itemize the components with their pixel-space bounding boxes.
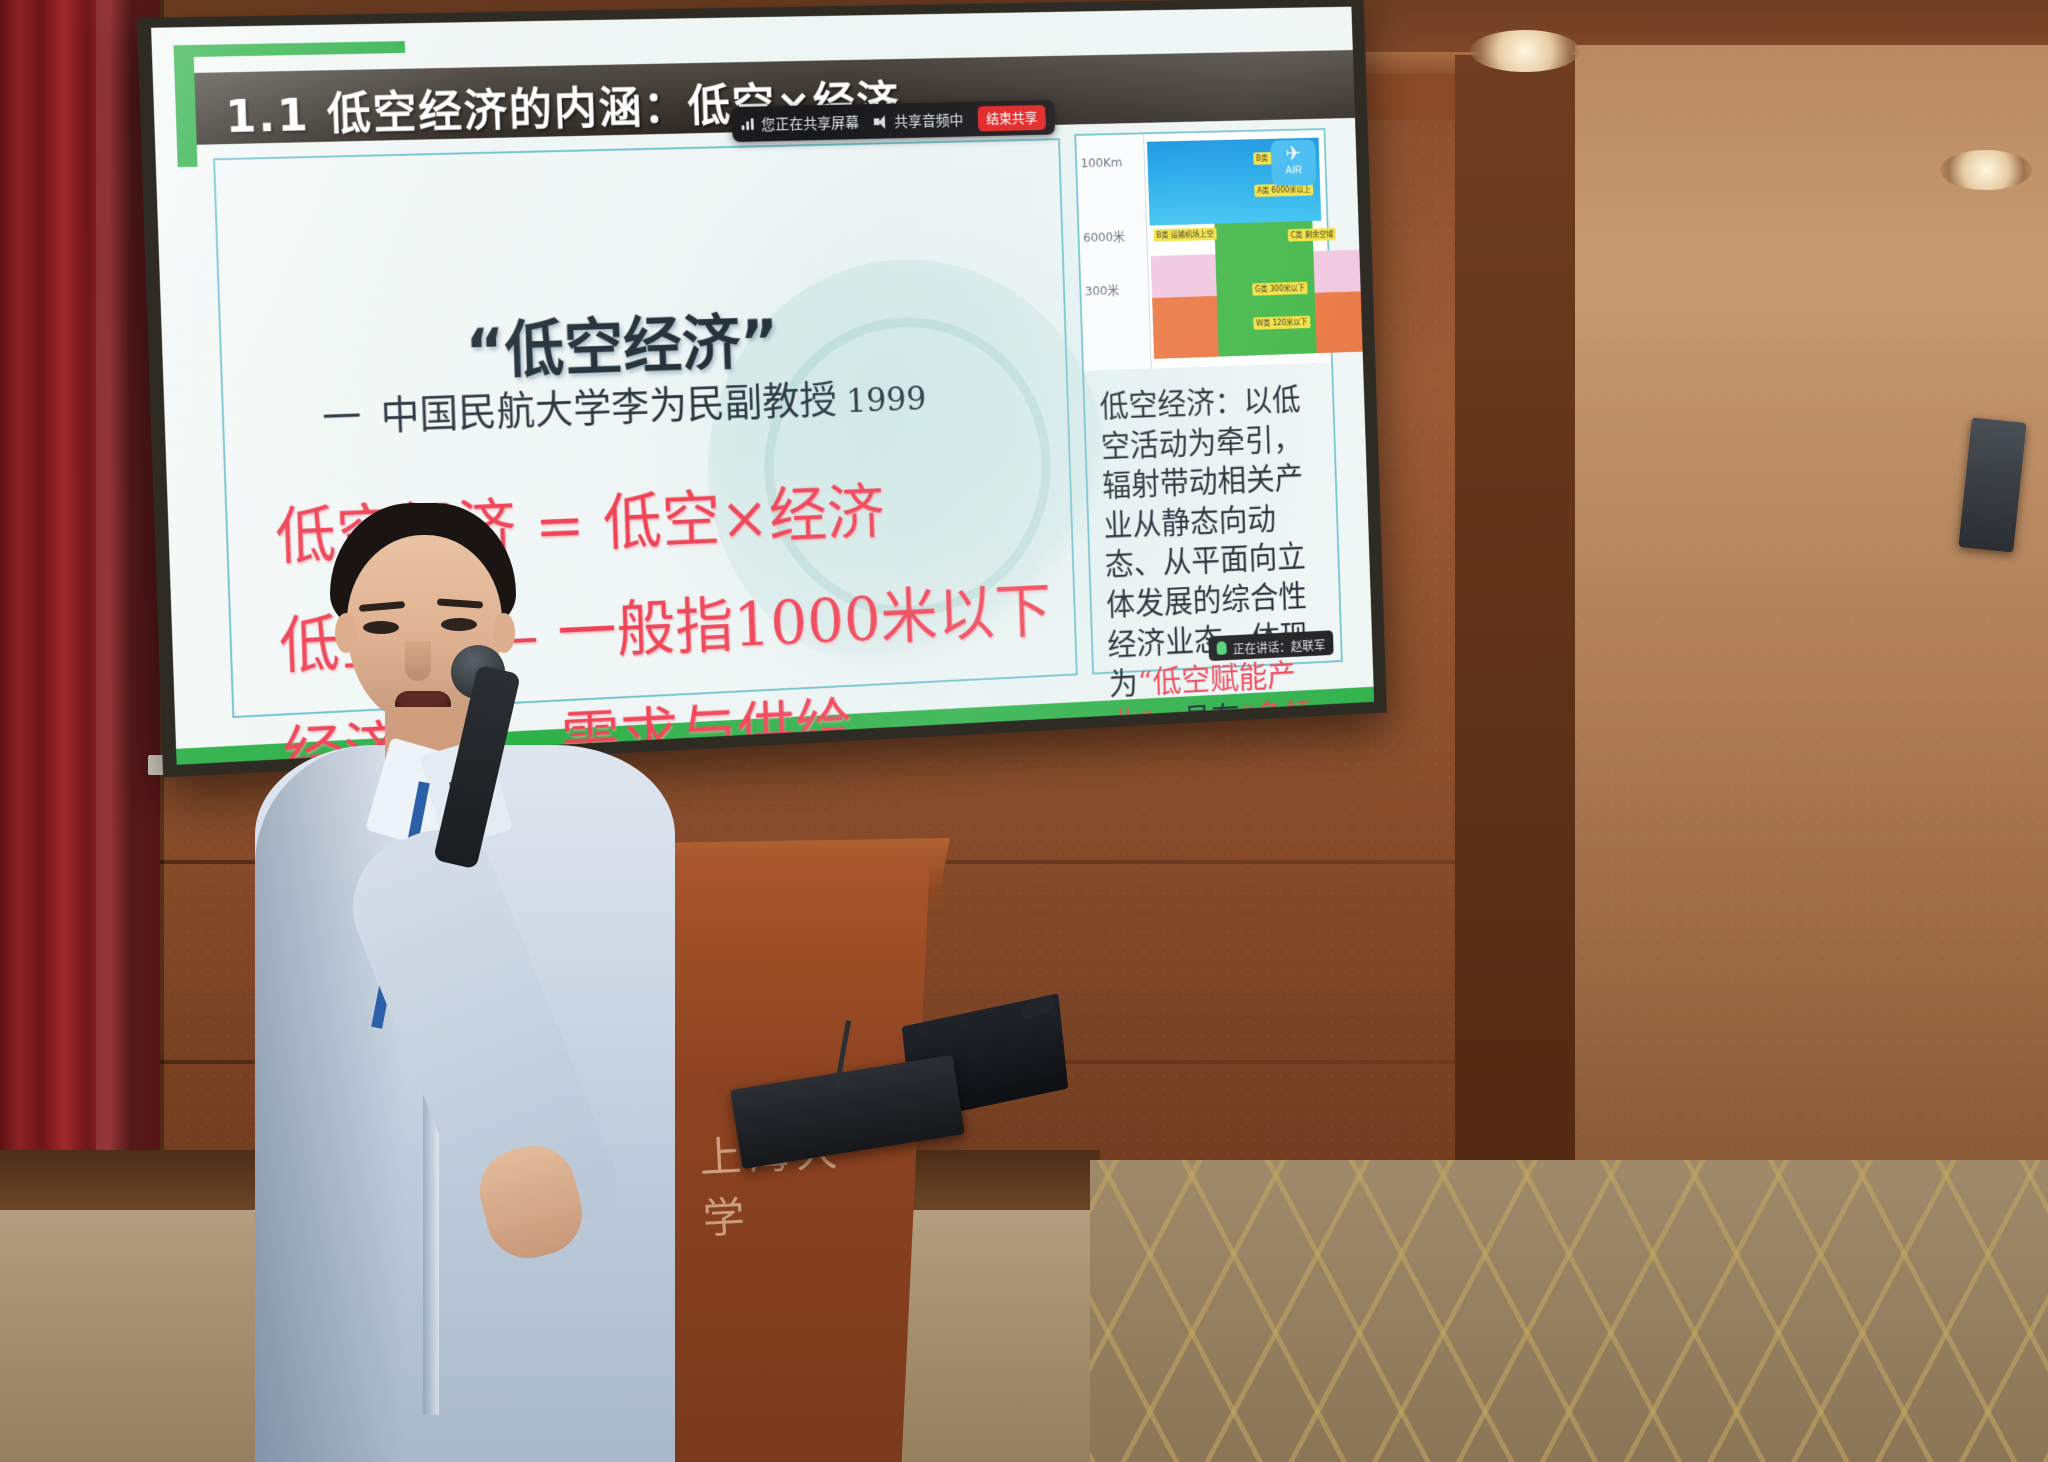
screen-share-toolbar[interactable]: 您正在共享屏幕 共享音频中 结束共享 (732, 100, 1056, 142)
band-pink-2 (1313, 250, 1367, 293)
slide-accent-bar-left (174, 45, 198, 167)
ceiling-downlight (1470, 30, 1580, 72)
presenter-ear-left (335, 613, 357, 653)
altitude-label-6000m: 6000米 (1083, 226, 1125, 245)
presenter-eye-right (441, 618, 477, 631)
definition-lead: 低空经济： (1099, 383, 1244, 424)
audio-status-label: 共享音频中 (894, 109, 964, 131)
altitude-label-300m: 300米 (1085, 280, 1120, 299)
right-wall-texture (1575, 45, 2048, 1175)
air-button-label: AIR (1286, 165, 1303, 177)
end-share-button[interactable]: 结束共享 (978, 105, 1046, 131)
patterned-carpet (1090, 1160, 2048, 1462)
audio-status-group: 共享音频中 (874, 109, 964, 131)
diagram-tag-2: B类 运输机场上空 (1153, 228, 1216, 242)
attribution-dash: 一 (322, 395, 361, 442)
presenter (255, 495, 675, 1462)
presenter-nose (405, 641, 431, 681)
low-altitude-economy-definition: 低空经济：以低空活动为牵引，辐射带动相关产业从静态向动态、从平面向立体发展的综合… (1086, 366, 1339, 671)
screenshot-stage: 1.1 低空经济的内涵：低空×经济 “低空经济” 一中国民航大学李为民副教授19… (0, 0, 2048, 1462)
speaker-icon (874, 115, 889, 128)
attribution-year: 1999 (845, 379, 926, 421)
wall-column (1455, 55, 1575, 1165)
diagram-tag-3: C类 剩余空域 (1288, 228, 1336, 242)
presenter-eye-left (363, 621, 399, 634)
band-300m-pink (1151, 254, 1217, 298)
airspace-diagram: 100Km 6000米 300米 B类 (1076, 130, 1331, 371)
diagram-tag-4: G类 300米以下 (1252, 282, 1308, 296)
signal-bars-icon (741, 118, 755, 130)
ceiling-downlight (1940, 150, 2032, 190)
diagram-tag-5: W类 120米以下 (1253, 316, 1310, 330)
share-status-label: 您正在共享屏幕 (761, 112, 860, 135)
airplane-icon: ✈ (1271, 143, 1316, 165)
air-button[interactable]: ✈ AIR (1271, 140, 1317, 187)
microphone-icon (1216, 641, 1226, 655)
band-orange-2 (1315, 291, 1370, 353)
active-speaker-label: 正在讲话：赵联军 (1233, 634, 1326, 657)
altitude-label-100km: 100Km (1080, 156, 1122, 171)
share-status-group: 您正在共享屏幕 (741, 112, 859, 135)
slide-accent-bar-top (174, 41, 406, 57)
slide-right-panel: 100Km 6000米 300米 B类 (1074, 128, 1342, 675)
presenter-ear-right (493, 613, 515, 653)
band-low-orange (1152, 296, 1219, 359)
